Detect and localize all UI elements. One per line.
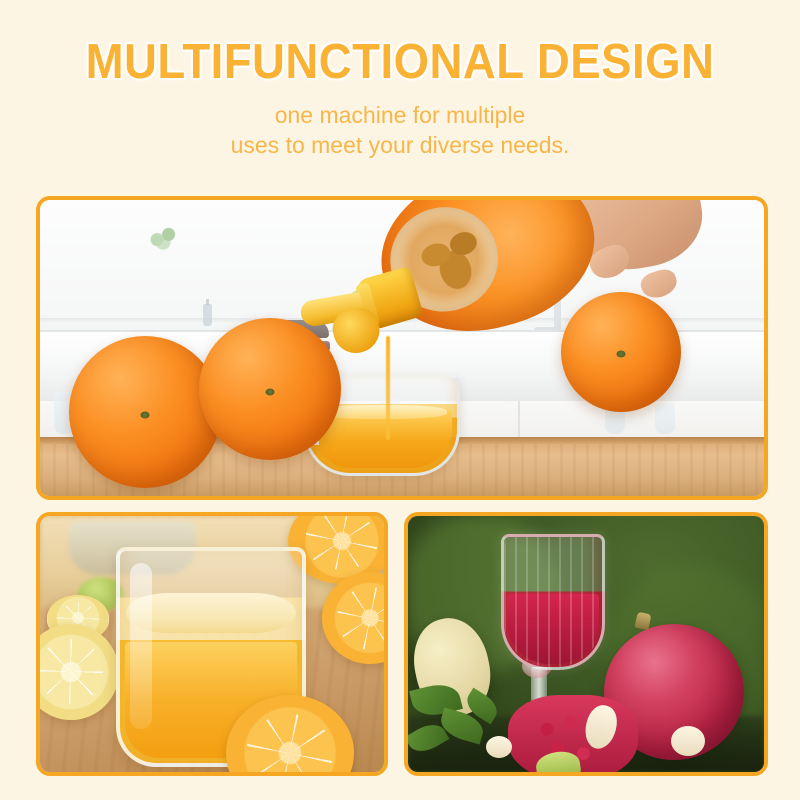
soap-bottle-icon	[203, 304, 212, 326]
scene-pomegranate-juice	[408, 516, 764, 772]
scene-orange-juicing	[40, 200, 764, 496]
panel-pomegranate-juice-scene[interactable]	[404, 512, 768, 776]
juice-stream	[386, 336, 390, 440]
glassware	[655, 404, 675, 434]
scene-orange-juice-glass	[40, 516, 384, 772]
hanging-plant-icon	[141, 224, 187, 250]
header: MULTIFUNCTIONAL DESIGN one machine for m…	[0, 0, 800, 161]
subtitle-line-1: one machine for multiple	[0, 101, 800, 131]
promo-page: MULTIFUNCTIONAL DESIGN one machine for m…	[0, 0, 800, 800]
page-title: MULTIFUNCTIONAL DESIGN	[28, 38, 772, 87]
crystal-goblet	[501, 534, 605, 670]
subtitle-line-2: uses to meet your diverse needs.	[0, 131, 800, 161]
orange-fruit	[561, 292, 681, 412]
panel-orange-juice-glass-scene[interactable]	[36, 512, 388, 776]
page-subtitle: one machine for multiple uses to meet yo…	[0, 101, 800, 161]
glass-highlight	[130, 563, 152, 728]
orange-fruit	[69, 336, 221, 488]
panel-orange-juicing-scene[interactable]	[36, 196, 768, 500]
goblet-facets	[504, 537, 602, 667]
